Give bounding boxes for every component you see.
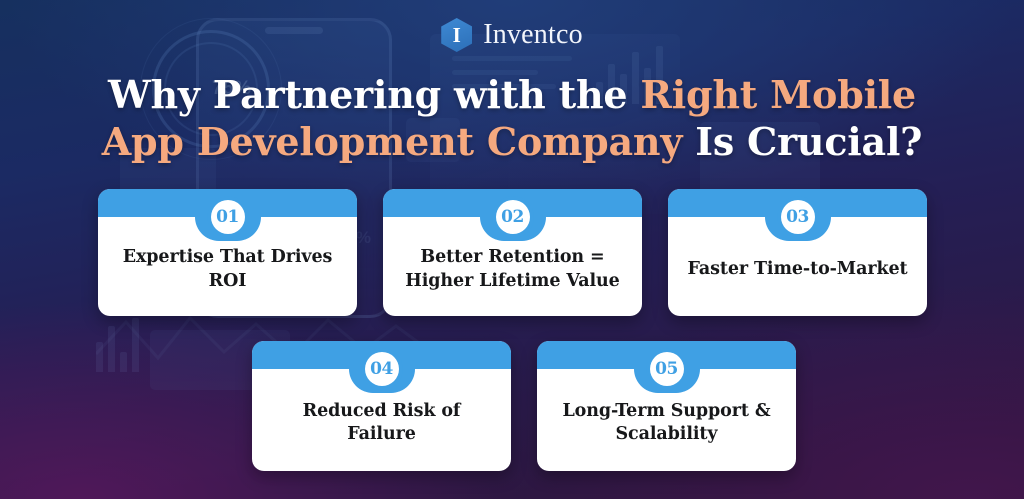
card-title: Long-Term Support & Scalability (551, 400, 782, 446)
card-number: 03 (786, 209, 809, 226)
card-number-badge-inner: 05 (650, 352, 684, 386)
card-number-badge-inner: 04 (365, 352, 399, 386)
card-header-bar: 05 (537, 341, 796, 369)
card-number-badge: 05 (646, 348, 688, 390)
benefit-card-01[interactable]: 01 Expertise That Drives ROI (98, 189, 357, 316)
benefit-card-03[interactable]: 03 Faster Time-to-Market (668, 189, 927, 316)
card-number: 04 (370, 361, 393, 378)
card-header-bar: 02 (383, 189, 642, 217)
card-number-badge-inner: 02 (496, 200, 530, 234)
card-header-bar: 04 (252, 341, 511, 369)
card-number-badge: 01 (207, 196, 249, 238)
card-number-badge-inner: 01 (211, 200, 245, 234)
card-number-badge: 04 (361, 348, 403, 390)
card-number-badge: 03 (777, 196, 819, 238)
infographic-canvas: 75% 65% I Inventco Why Partnering (0, 0, 1024, 499)
card-title: Reduced Risk of Failure (266, 400, 497, 446)
card-number: 05 (655, 361, 678, 378)
card-number-badge: 02 (492, 196, 534, 238)
benefit-cards-grid: 01 Expertise That Drives ROI 02 Better R… (0, 0, 1024, 499)
card-title: Expertise That Drives ROI (112, 246, 343, 292)
card-header-bar: 03 (668, 189, 927, 217)
benefit-card-05[interactable]: 05 Long-Term Support & Scalability (537, 341, 796, 471)
card-number: 01 (216, 209, 239, 226)
benefit-card-02[interactable]: 02 Better Retention = Higher Lifetime Va… (383, 189, 642, 316)
benefit-card-04[interactable]: 04 Reduced Risk of Failure (252, 341, 511, 471)
card-title: Better Retention = Higher Lifetime Value (397, 246, 628, 292)
card-title: Faster Time-to-Market (688, 258, 908, 281)
card-header-bar: 01 (98, 189, 357, 217)
card-number-badge-inner: 03 (781, 200, 815, 234)
card-number: 02 (501, 209, 524, 226)
